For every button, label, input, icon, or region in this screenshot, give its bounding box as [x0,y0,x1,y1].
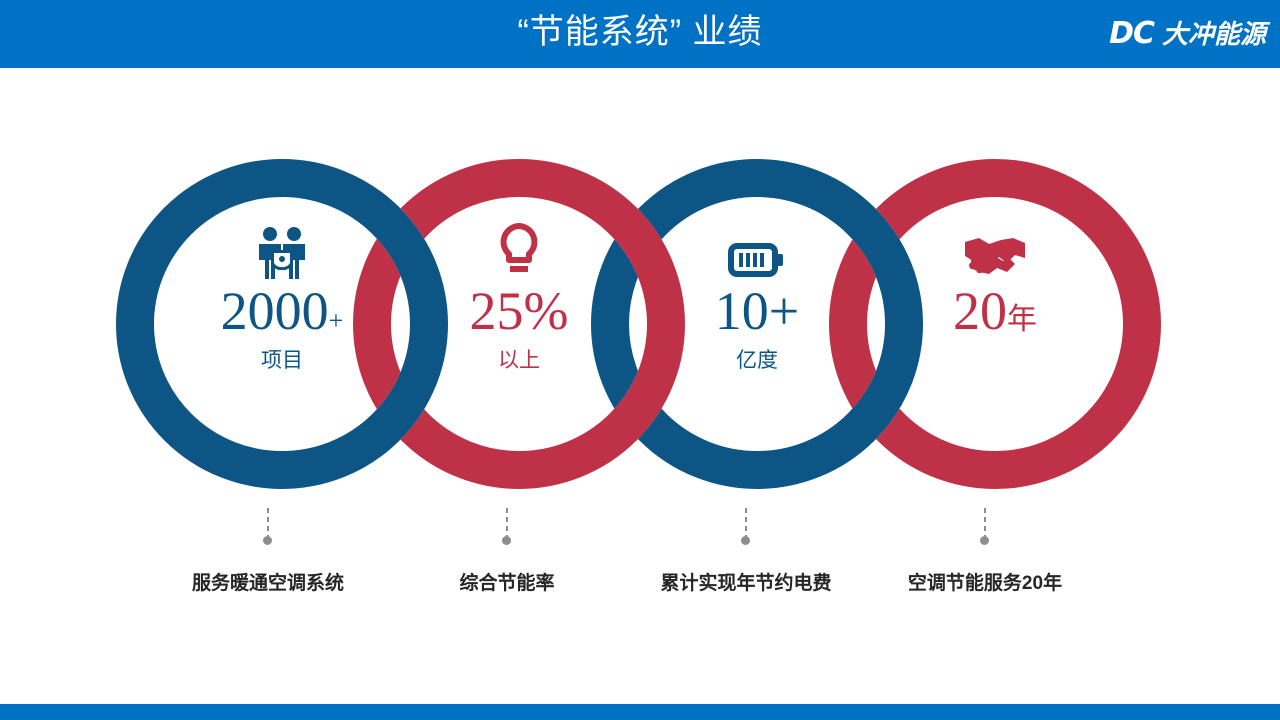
page-header: “节能系统” 业绩 DC 大冲能源 [0,0,1280,68]
ring-caption-2: 综合节能率 [459,568,554,595]
connector-line-2 [506,508,508,538]
connector-line-4 [984,508,986,538]
connector-line-3 [745,508,747,538]
connector-dot-2 [502,536,511,545]
connector-dot-3 [741,536,750,545]
interlocking-rings-graphic [0,68,1280,704]
company-logo: DC 大冲能源 [1109,13,1266,55]
footer-bar [0,704,1280,720]
logo-mark-dc: DC [1109,19,1154,49]
logo-text-company: 大冲能源 [1162,21,1266,47]
infographic-stage: 2000+ 项目 25% 以上 10+ [0,68,1280,704]
ring-caption-1: 服务暖通空调系统 [192,568,344,595]
connector-dot-4 [980,536,989,545]
connector-line-1 [267,508,269,538]
ring-caption-3: 累计实现年节约电费 [660,568,831,595]
ring-caption-4: 空调节能服务20年 [908,568,1062,595]
connector-dot-1 [263,536,272,545]
page-title: “节能系统” 业绩 [0,0,1280,68]
